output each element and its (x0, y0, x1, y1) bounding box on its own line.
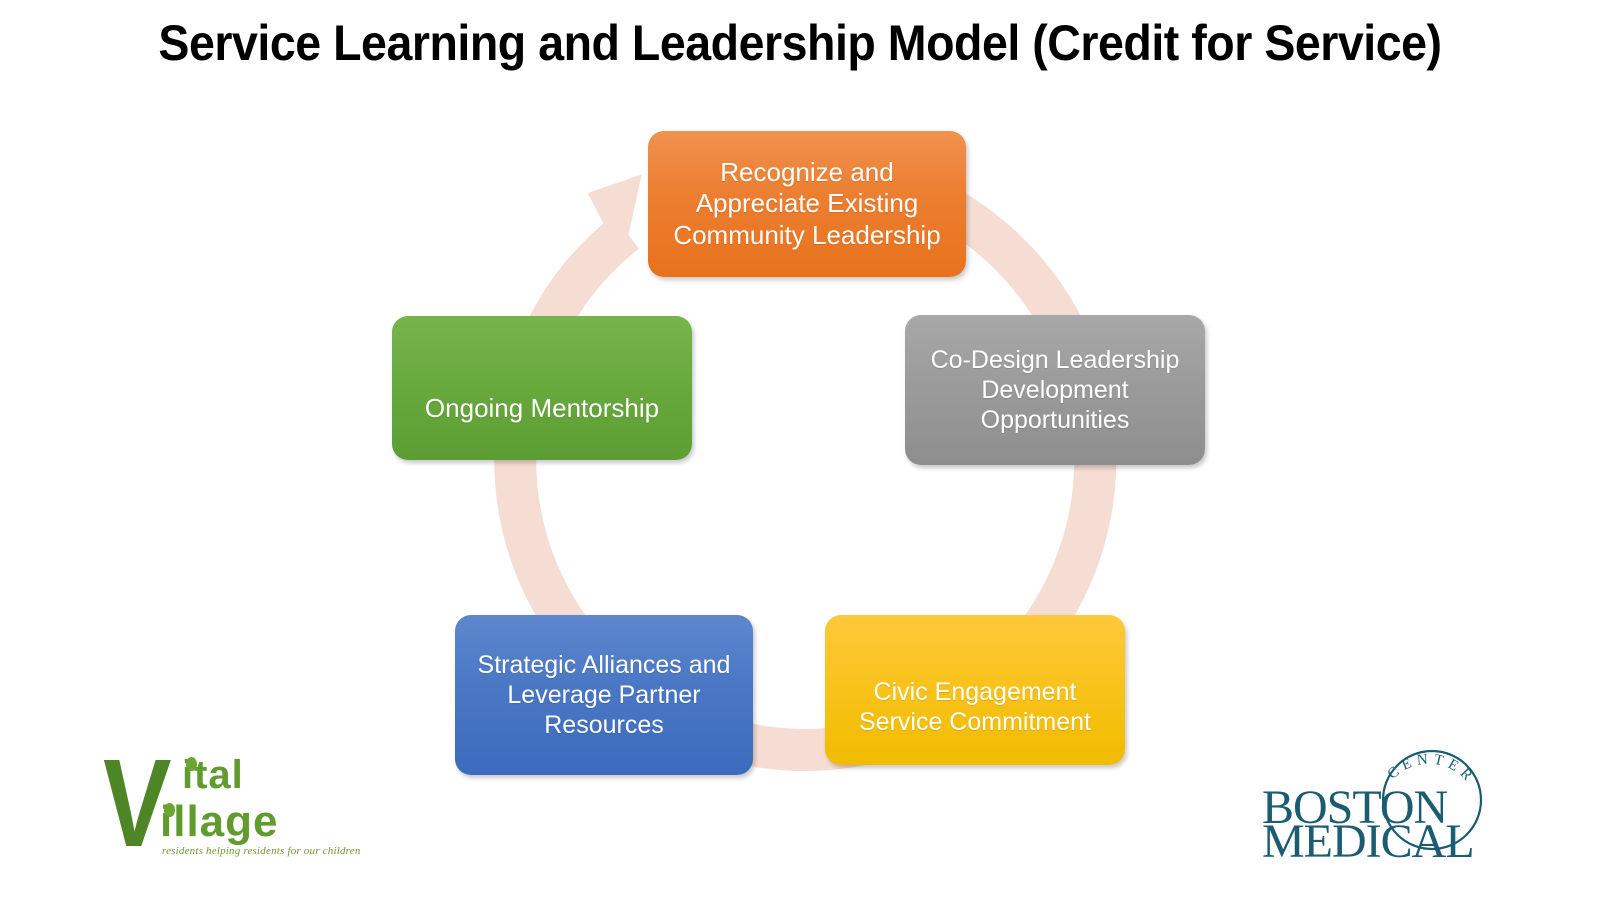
footprint-dot-icon (186, 757, 197, 771)
cycle-node-recognize-label: Recognize and Appreciate Existing Commun… (673, 157, 940, 251)
boston-medical-center-logo: CENTER BOSTON MEDICAL (1262, 748, 1492, 858)
cycle-node-codesign-label: Co-Design Leadership Development Opportu… (931, 345, 1180, 436)
cycle-node-codesign[interactable]: Co-Design Leadership Development Opportu… (905, 315, 1205, 465)
footprint-dot-icon (164, 803, 175, 817)
cycle-node-civic-engagement-label: Civic Engagement Service Commitment (859, 677, 1091, 738)
vital-village-logo: V ital illage residents helping resident… (100, 745, 310, 865)
cycle-node-civic-engagement[interactable]: Civic Engagement Service Commitment (825, 615, 1125, 765)
cycle-node-strategic-alliances[interactable]: Strategic Alliances and Leverage Partner… (455, 615, 753, 775)
cycle-node-ongoing-mentorship[interactable]: Ongoing Mentorship (392, 316, 692, 460)
vital-village-tagline: residents helping residents for our chil… (162, 845, 361, 857)
cycle-node-ongoing-mentorship-label: Ongoing Mentorship (425, 393, 659, 424)
cycle-node-recognize[interactable]: Recognize and Appreciate Existing Commun… (648, 131, 966, 277)
bmc-line-medical: MEDICAL (1262, 814, 1474, 869)
cycle-node-strategic-alliances-label: Strategic Alliances and Leverage Partner… (478, 650, 731, 741)
vital-village-word-illage: illage (160, 797, 279, 847)
